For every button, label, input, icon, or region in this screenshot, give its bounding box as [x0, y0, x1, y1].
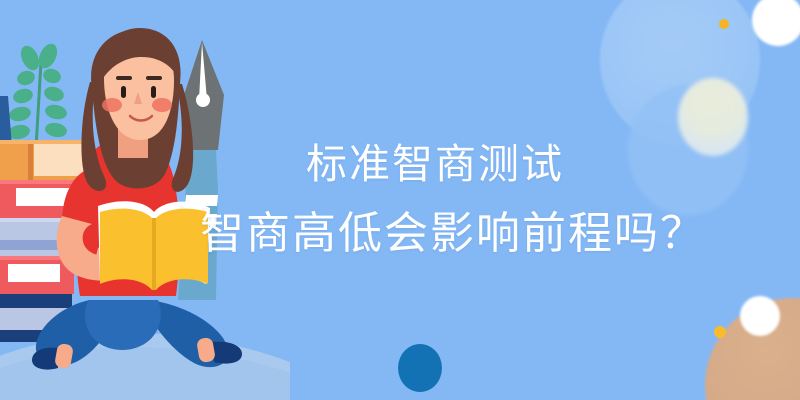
white-circle-bottom-right-decoration — [740, 296, 780, 336]
headline-block: 标准智商测试 智商高低会影响前程吗？ — [200, 140, 670, 260]
white-circle-top-right-decoration — [752, 0, 800, 46]
girl-right-eye — [151, 86, 156, 98]
girl-right-shoe — [212, 342, 242, 364]
book-left-page — [100, 209, 152, 290]
girl-left-eye — [121, 86, 126, 98]
girl-right-eyebrow — [146, 76, 162, 80]
iq-test-banner: 标准智商测试 智商高低会影响前程吗？ — [0, 0, 800, 400]
open-book-yellow — [98, 201, 210, 290]
book-spine — [152, 218, 156, 290]
girl-left-eyebrow — [116, 76, 132, 80]
cream-blob-decoration — [678, 78, 748, 156]
orange-dot-top-decoration — [719, 19, 729, 29]
girl-right-cheek — [152, 98, 172, 112]
headline-line-1: 标准智商测试 — [200, 140, 670, 188]
orange-dot-bottom-decoration — [714, 326, 726, 338]
navy-book — [0, 294, 72, 308]
headline-line-2: 智商高低会影响前程吗？ — [200, 208, 670, 260]
green-plant-icon — [7, 41, 68, 148]
left-edge-blue-object — [0, 96, 12, 146]
blue-dot-decoration — [398, 344, 442, 392]
girl-left-cheek — [102, 98, 122, 112]
